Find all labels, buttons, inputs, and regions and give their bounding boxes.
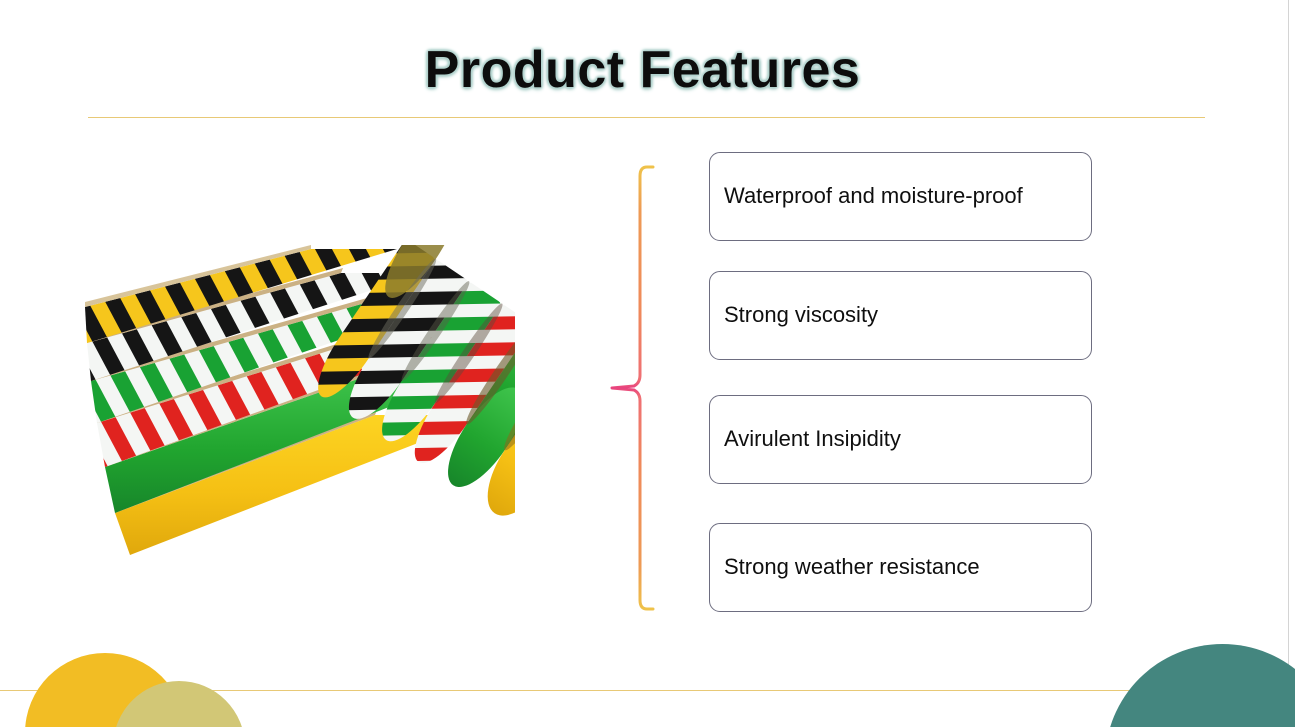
slide-canvas: Product Features bbox=[0, 0, 1295, 727]
teal-circle bbox=[1105, 644, 1295, 727]
tape-rolls-illustration bbox=[75, 245, 515, 585]
feature-label: Avirulent Insipidity bbox=[724, 427, 901, 451]
feature-box-2[interactable]: Strong viscosity bbox=[709, 271, 1092, 360]
slide-right-edge bbox=[1288, 0, 1289, 727]
feature-label: Strong viscosity bbox=[724, 303, 878, 327]
curly-brace bbox=[605, 150, 660, 620]
feature-label: Strong weather resistance bbox=[724, 555, 980, 579]
feature-box-3[interactable]: Avirulent Insipidity bbox=[709, 395, 1092, 484]
page-title: Product Features bbox=[0, 40, 1285, 100]
feature-label: Waterproof and moisture-proof bbox=[724, 184, 1023, 208]
feature-box-1[interactable]: Waterproof and moisture-proof bbox=[709, 152, 1092, 241]
feature-box-4[interactable]: Strong weather resistance bbox=[709, 523, 1092, 612]
top-divider-rule bbox=[88, 117, 1205, 118]
product-image bbox=[75, 245, 515, 585]
